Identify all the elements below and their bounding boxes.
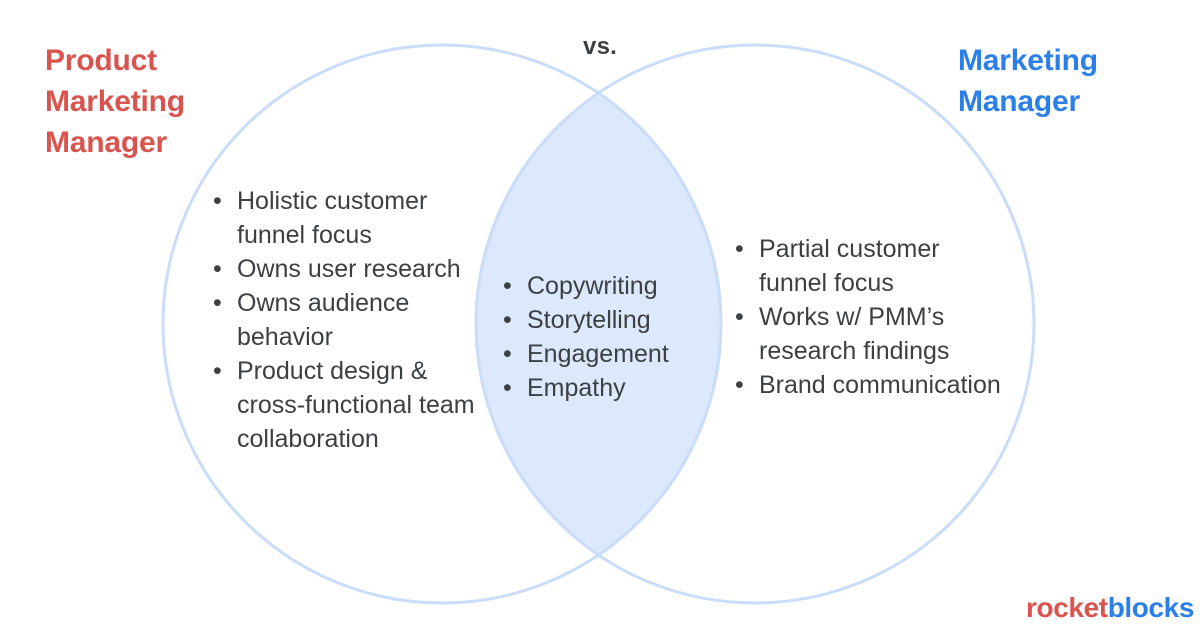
list-item: •Partial customer funnel focus — [732, 232, 1002, 300]
list-item-label: Owns user research — [237, 255, 461, 283]
list-item-label: Works w/ PMM’s research findings — [759, 303, 949, 365]
list-item: •Brand communication — [732, 368, 1002, 402]
bullet-icon: • — [735, 368, 744, 402]
bullet-icon: • — [503, 371, 512, 405]
overlap-list: •Copywriting •Storytelling •Engagement •… — [500, 269, 705, 405]
bullet-icon: • — [213, 354, 222, 388]
list-item-label: Product design & cross-functional team c… — [237, 357, 475, 453]
bullet-icon: • — [503, 337, 512, 371]
list-item-label: Storytelling — [527, 306, 651, 334]
list-item: •Storytelling — [500, 303, 705, 337]
list-item: •Product design & cross-functional team … — [210, 354, 495, 456]
list-item-label: Partial customer funnel focus — [759, 235, 940, 297]
list-item: •Works w/ PMM’s research findings — [732, 300, 1002, 368]
left-circle-list: •Holistic customer funnel focus •Owns us… — [210, 184, 495, 456]
list-item-label: Brand communication — [759, 371, 1001, 399]
right-circle-list: •Partial customer funnel focus •Works w/… — [732, 232, 1002, 402]
venn-diagram-canvas: Product Marketing Manager vs. Marketing … — [0, 0, 1200, 630]
rocketblocks-logo[interactable]: rocketblocks — [1026, 592, 1194, 624]
list-item-label: Copywriting — [527, 272, 658, 300]
right-circle-title: Marketing Manager — [958, 40, 1158, 122]
list-item-label: Engagement — [527, 340, 669, 368]
list-item: •Owns audience behavior — [210, 286, 495, 354]
list-item: •Holistic customer funnel focus — [210, 184, 495, 252]
logo-text-blocks: blocks — [1108, 592, 1194, 623]
list-item: •Engagement — [500, 337, 705, 371]
logo-text-rocket: rocket — [1026, 592, 1108, 623]
bullet-icon: • — [735, 232, 744, 266]
list-item-label: Holistic customer funnel focus — [237, 187, 427, 249]
bullet-icon: • — [213, 184, 222, 218]
list-item: •Empathy — [500, 371, 705, 405]
list-item: •Copywriting — [500, 269, 705, 303]
bullet-icon: • — [735, 300, 744, 334]
bullet-icon: • — [503, 303, 512, 337]
bullet-icon: • — [213, 286, 222, 320]
bullet-icon: • — [213, 252, 222, 286]
list-item: •Owns user research — [210, 252, 495, 286]
bullet-icon: • — [503, 269, 512, 303]
list-item-label: Empathy — [527, 374, 626, 402]
list-item-label: Owns audience behavior — [237, 289, 409, 351]
